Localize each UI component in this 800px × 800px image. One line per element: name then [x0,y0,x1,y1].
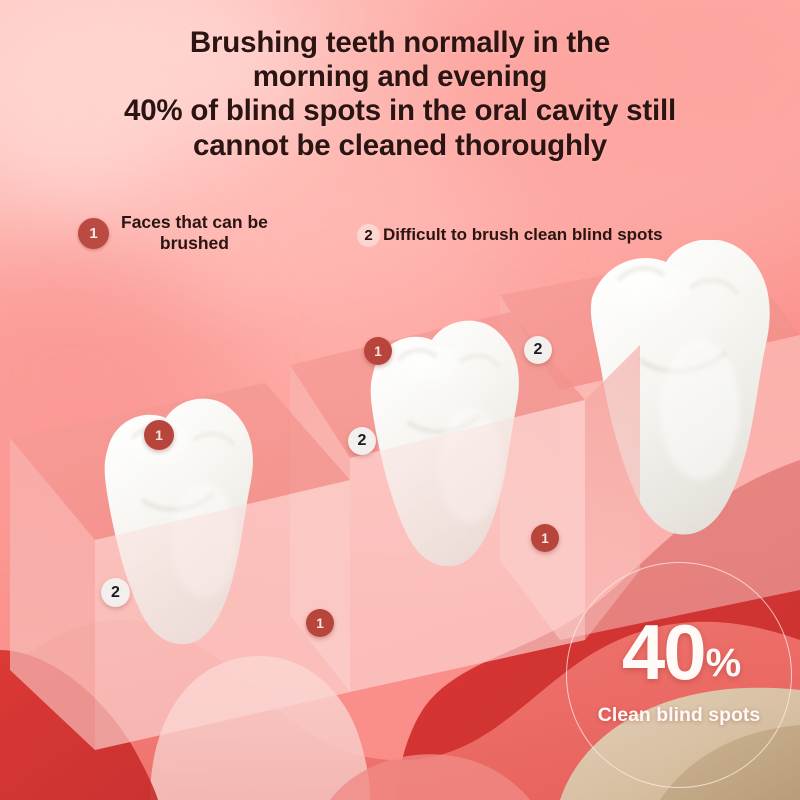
callout-2-tooth-1: 2 [101,578,130,607]
headline-line-3: 40% of blind spots in the oral cavity st… [0,94,800,128]
headline-line-2: morning and evening [0,60,800,94]
stat-value: 40 [622,617,705,689]
infographic-canvas: Brushing teeth normally in the morning a… [0,0,800,800]
headline-line-1: Brushing teeth normally in the [0,26,800,60]
stat-badge-40-percent: 40 % Clean blind spots [566,562,792,788]
callout-1-tooth-3: 1 [531,524,559,552]
stat-label: Clean blind spots [598,704,761,727]
stat-value-group: 40 % [622,617,740,689]
legend-item-blindspot: 2 Difficult to brush clean blind spots [357,224,663,247]
legend-label-1-line1: Faces that can be [121,212,268,232]
headline: Brushing teeth normally in the morning a… [0,26,800,163]
callout-1-box-front: 1 [306,609,334,637]
headline-line-4: cannot be cleaned thoroughly [0,129,800,163]
legend-badge-1-icon: 1 [78,218,109,249]
legend: 1 Faces that can be brushed 2 Difficult … [0,212,800,264]
legend-label-1-line2: brushed [160,233,229,253]
stat-percent-symbol: % [706,645,741,682]
callout-2-tooth-2: 2 [348,427,376,455]
legend-label-1: Faces that can be brushed [121,212,268,254]
callout-2-tooth-3: 2 [524,336,552,364]
legend-label-2: Difficult to brush clean blind spots [383,225,663,245]
callout-1-tooth-2: 1 [364,337,392,365]
callout-1-tooth-1: 1 [144,420,174,450]
legend-item-brushable: 1 Faces that can be brushed [78,212,268,254]
legend-badge-2-icon: 2 [357,224,380,247]
